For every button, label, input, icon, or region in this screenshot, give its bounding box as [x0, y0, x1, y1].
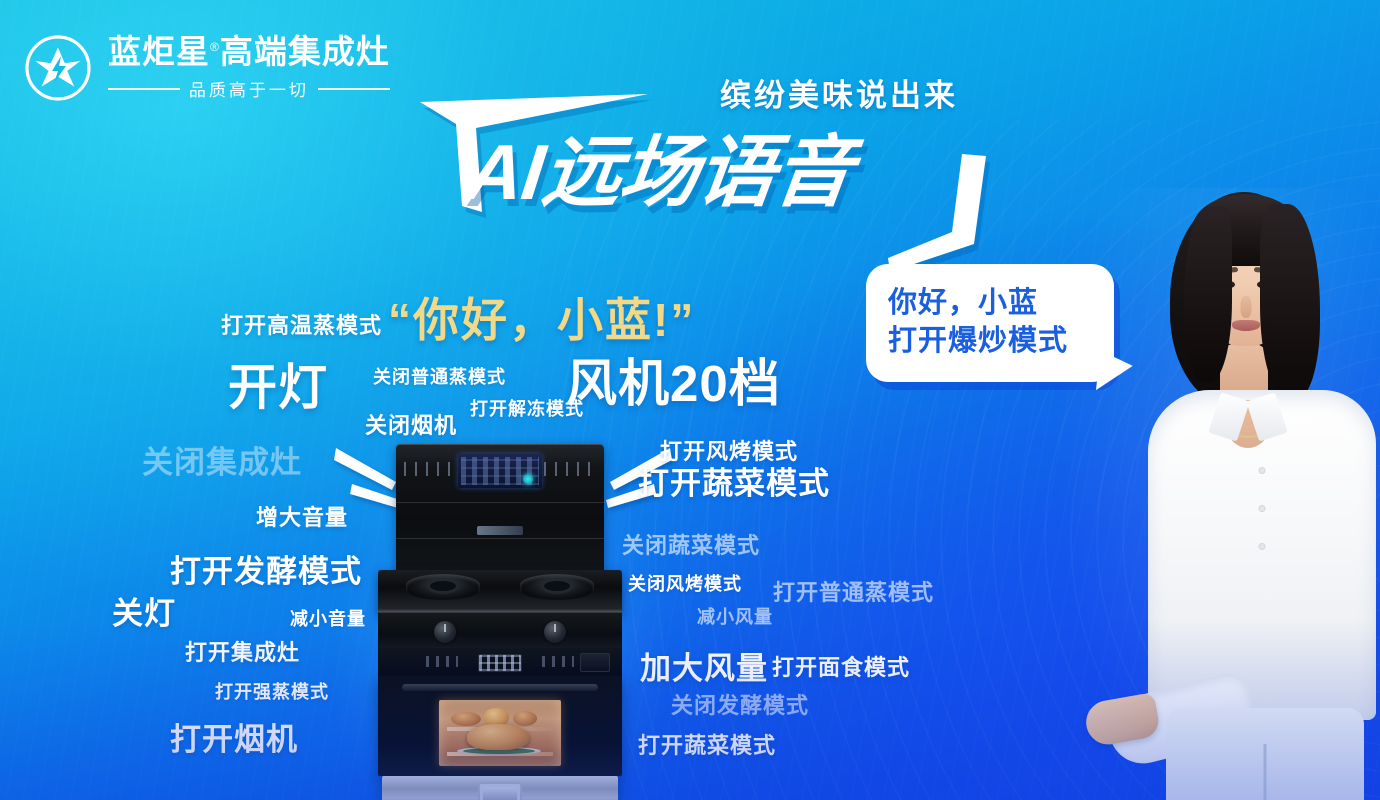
- voice-command-text: 打开解冻模式: [470, 395, 584, 421]
- oven-pads-left: [426, 656, 458, 667]
- voice-command-text: 关闭发酵模式: [671, 688, 809, 720]
- voice-command-text: 关闭集成灶: [142, 437, 302, 482]
- white-blouse: [1148, 390, 1376, 720]
- voice-command-text: 打开发酵模式: [170, 546, 362, 591]
- voice-command-text: 打开面食模式: [772, 650, 910, 682]
- blouse-button: [1260, 468, 1265, 473]
- roast-turkey: [467, 724, 529, 750]
- headline-bracket-right-icon: [888, 154, 998, 279]
- headline-block: 缤纷美味说出来 AI远场语音: [420, 62, 980, 242]
- voice-command-text: 关灯: [112, 588, 176, 633]
- power-indicator-icon: [523, 474, 533, 484]
- hair-front-left: [1184, 206, 1232, 382]
- voice-command-text: 打开烟机: [170, 714, 298, 759]
- presenter-woman-image: [1092, 168, 1380, 800]
- oven-control-face: [378, 648, 622, 676]
- voice-command-text: 关闭风烤模式: [628, 570, 742, 596]
- knob-left[interactable]: [434, 621, 456, 643]
- product-brand-plate: [477, 526, 523, 535]
- voice-command-text: 打开高温蒸模式: [221, 308, 382, 340]
- integrated-stove-product-image: [374, 444, 626, 790]
- voice-command-text: 关闭普通蒸模式: [373, 363, 506, 389]
- burner-left: [406, 574, 480, 600]
- hood-touch-controls-left: [404, 462, 456, 476]
- voice-command-text: 打开集成灶: [185, 635, 300, 667]
- knob-row: [378, 612, 622, 651]
- white-trousers: [1166, 708, 1364, 800]
- slogan-rule-left: [108, 88, 180, 90]
- brand-slogan: 品质高于一切: [189, 76, 309, 101]
- voice-command-text: 增大音量: [256, 500, 348, 532]
- hood-seam-upper: [396, 502, 604, 503]
- fan-speed-feature-text: 风机20档: [566, 342, 781, 416]
- hood-seam-lower: [396, 538, 604, 539]
- appliance-base-drawer: [382, 776, 618, 800]
- oven-mode-button[interactable]: [580, 653, 610, 672]
- oven-cavity: [378, 676, 622, 776]
- voice-command-text: 关闭蔬菜模式: [622, 528, 760, 560]
- nose: [1241, 296, 1252, 318]
- brand-name-line: 蓝炬星®高端集成灶: [108, 35, 390, 70]
- blouse-button: [1260, 544, 1265, 549]
- voice-command-text: 打开蔬菜模式: [638, 458, 830, 503]
- voice-command-text: 打开强蒸模式: [215, 678, 329, 704]
- brand-logo-text: 蓝炬星®高端集成灶 品质高于一切: [108, 35, 390, 102]
- registered-mark: ®: [210, 40, 220, 54]
- food-item: [513, 711, 537, 726]
- brand-slogan-row: 品质高于一切: [108, 76, 390, 101]
- oven-pads-right: [542, 656, 574, 667]
- oven-door-handle[interactable]: [402, 684, 598, 691]
- range-hood: [396, 444, 604, 578]
- control-display-panel: [458, 454, 542, 488]
- voice-command-text: 加大风量: [640, 643, 768, 688]
- brand-logo[interactable]: 蓝炬星®高端集成灶 品质高于一切: [22, 32, 390, 104]
- food-item: [451, 712, 481, 726]
- gas-cooktop: [378, 570, 622, 614]
- hood-touch-controls-right: [544, 462, 596, 476]
- ad-banner: 蓝炬星®高端集成灶 品质高于一切 缤纷美味说出来 AI远场语音 “你好，小蓝!”…: [0, 0, 1380, 800]
- mouth: [1232, 320, 1260, 331]
- base-drawer-handle[interactable]: [478, 782, 522, 800]
- headline-kicker: 缤纷美味说出来: [720, 70, 958, 115]
- voice-command-text: 关闭烟机: [365, 408, 457, 440]
- knob-right[interactable]: [544, 621, 566, 643]
- brand-name: 蓝炬星: [108, 33, 210, 70]
- voice-command-text: 减小音量: [290, 605, 366, 631]
- slogan-rule-right: [318, 88, 390, 90]
- oven-window: [439, 700, 561, 766]
- star-lightning-emblem-icon: [22, 32, 94, 104]
- page-title: AI远场语音: [461, 110, 859, 222]
- voice-command-text: 打开普通蒸模式: [773, 575, 934, 607]
- voice-command-text: 开灯: [228, 348, 328, 419]
- burner-right: [520, 574, 594, 600]
- oven-display: [478, 654, 522, 672]
- wake-phrase-text: “你好，小蓝!”: [388, 284, 695, 350]
- voice-command-text: 减小风量: [697, 603, 773, 629]
- blouse-button: [1260, 506, 1265, 511]
- brand-category: 高端集成灶: [220, 33, 390, 70]
- trouser-seam: [1264, 744, 1267, 800]
- voice-command-text: 打开蔬菜模式: [638, 728, 776, 760]
